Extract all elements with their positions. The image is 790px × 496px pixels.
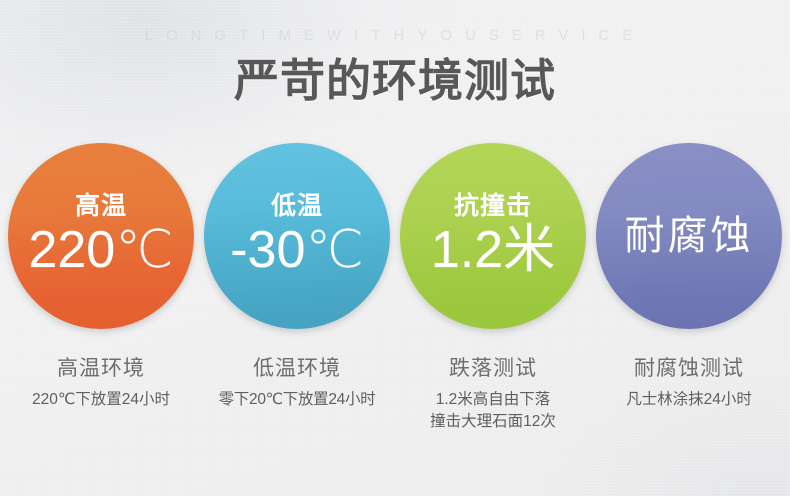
circle-content: 高温 220℃ — [8, 194, 194, 278]
circle-head-label: 低温 — [204, 194, 390, 219]
test-circle-corrosion-resistance: 耐腐蚀 — [596, 143, 782, 329]
caption-subtitle-line1: 零下20℃下放置24小时 — [204, 389, 390, 411]
circle-content: 抗撞击 1.2米 — [400, 194, 586, 278]
test-captions-row: 高温环境 220℃下放置24小时 低温环境 零下20℃下放置24小时 跌落测试 … — [0, 352, 790, 432]
test-circles-row: 高温 220℃ 低温 -30℃ 抗撞击 1.2米 耐腐蚀 — [0, 143, 790, 333]
circle-content: 低温 -30℃ — [204, 194, 390, 278]
caption-corrosion-resistance: 耐腐蚀测试 凡士林涂抹24小时 — [596, 352, 782, 432]
caption-title: 耐腐蚀测试 — [596, 352, 782, 382]
circle-content: 耐腐蚀 — [596, 216, 782, 256]
caption-title: 跌落测试 — [400, 352, 586, 382]
test-circle-drop-impact: 抗撞击 1.2米 — [400, 143, 586, 329]
caption-subtitle-line2: 撞击大理石面12次 — [400, 411, 586, 433]
test-circle-low-temperature: 低温 -30℃ — [204, 143, 390, 329]
circle-head-label: 高温 — [8, 194, 194, 219]
page-title: 严苛的环境测试 — [0, 44, 790, 109]
circle-value-label: 220℃ — [8, 223, 194, 278]
caption-subtitle-line1: 220℃下放置24小时 — [8, 389, 194, 411]
caption-title: 高温环境 — [8, 352, 194, 382]
circle-head-label: 抗撞击 — [400, 194, 586, 219]
caption-subtitle-line1: 凡士林涂抹24小时 — [596, 389, 782, 411]
caption-low-temperature: 低温环境 零下20℃下放置24小时 — [204, 352, 390, 432]
caption-high-temperature: 高温环境 220℃下放置24小时 — [8, 352, 194, 432]
background-watermark-text: LONGTIMEWITHYOUSERVICE — [0, 27, 790, 44]
caption-title: 低温环境 — [204, 352, 390, 382]
caption-drop-impact: 跌落测试 1.2米高自由下落 撞击大理石面12次 — [400, 352, 586, 432]
circle-value-label: 1.2米 — [400, 223, 586, 278]
circle-value-label: 耐腐蚀 — [596, 216, 782, 256]
test-circle-high-temperature: 高温 220℃ — [8, 143, 194, 329]
circle-value-label: -30℃ — [204, 223, 390, 278]
caption-subtitle-line1: 1.2米高自由下落 — [400, 389, 586, 411]
promo-banner: LONGTIMEWITHYOUSERVICE 严苛的环境测试 高温 220℃ 低… — [0, 0, 790, 496]
